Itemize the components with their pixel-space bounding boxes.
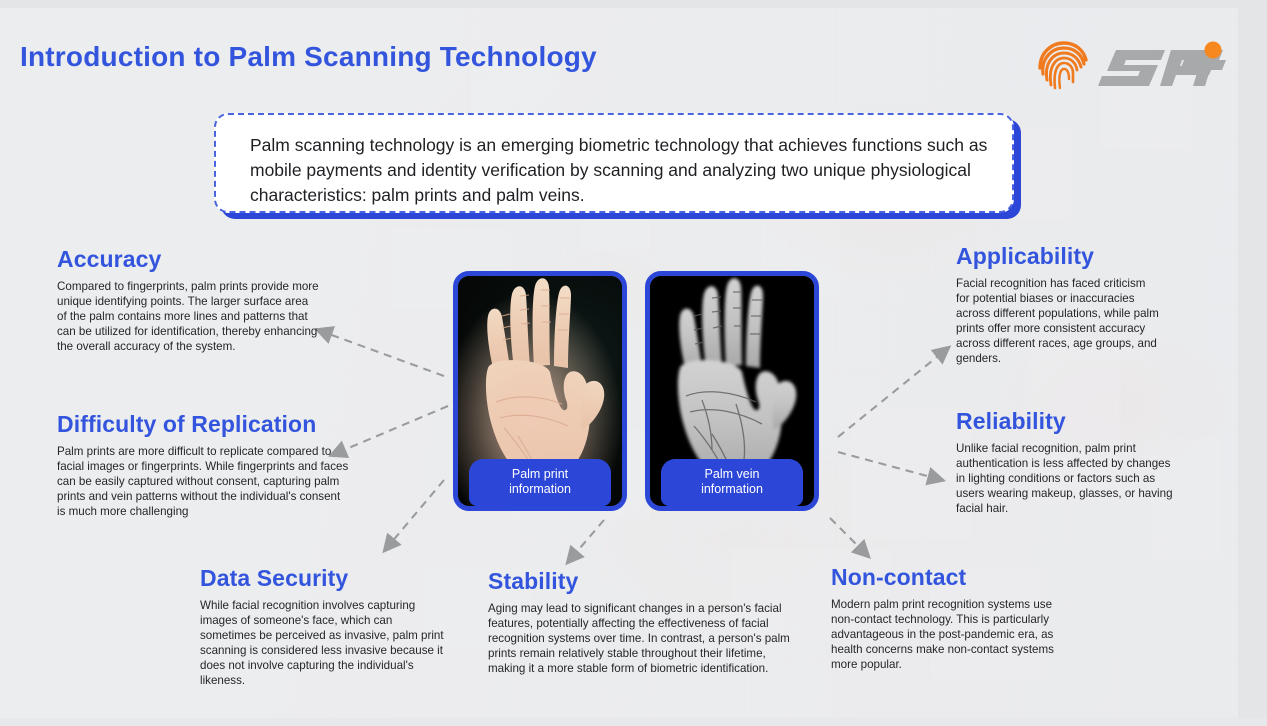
feature-difficulty-body: Palm prints are more difficult to replic…: [57, 444, 349, 519]
bottom-edge-strip: [0, 718, 1267, 726]
feature-reliability-heading: Reliability: [956, 408, 1178, 435]
palm-vein-label: Palm vein information: [661, 459, 803, 507]
intro-callout: Palm scanning technology is an emerging …: [214, 113, 1014, 213]
page-title: Introduction to Palm Scanning Technology: [20, 41, 597, 73]
palm-print-label-line2: information: [509, 482, 571, 496]
palm-print-label-line1: Palm print: [512, 467, 568, 481]
feature-applicability-heading: Applicability: [956, 243, 1162, 270]
feature-difficulty-of-replication: Difficulty of Replication Palm prints ar…: [57, 411, 349, 519]
feature-difficulty-heading: Difficulty of Replication: [57, 411, 349, 438]
sft-logo: [1034, 38, 1232, 90]
palm-vein-label-line2: information: [701, 482, 763, 496]
feature-data-security-heading: Data Security: [200, 565, 448, 592]
right-edge-strip: [1238, 0, 1267, 726]
palm-print-card[interactable]: Palm print information: [453, 271, 627, 511]
palm-vein-card[interactable]: Palm vein information: [645, 271, 819, 511]
feature-applicability: Applicability Facial recognition has fac…: [956, 243, 1162, 366]
feature-reliability-body: Unlike facial recognition, palm print au…: [956, 441, 1178, 516]
feature-accuracy: Accuracy Compared to fingerprints, palm …: [57, 246, 319, 354]
feature-accuracy-body: Compared to fingerprints, palm prints pr…: [57, 279, 319, 354]
palm-vein-label-line1: Palm vein: [705, 467, 760, 481]
feature-stability: Stability Aging may lead to significant …: [488, 568, 798, 676]
feature-stability-heading: Stability: [488, 568, 798, 595]
feature-accuracy-heading: Accuracy: [57, 246, 319, 273]
feature-data-security-body: While facial recognition involves captur…: [200, 598, 448, 688]
logo-dot: [1205, 42, 1222, 59]
fingerprint-icon: [1040, 43, 1086, 88]
intro-text: Palm scanning technology is an emerging …: [216, 115, 1012, 208]
feature-non-contact-heading: Non-contact: [831, 564, 1056, 591]
slide-canvas: Introduction to Palm Scanning Technology…: [0, 0, 1267, 726]
feature-stability-body: Aging may lead to significant changes in…: [488, 601, 798, 676]
top-edge-strip: [0, 0, 1267, 8]
feature-applicability-body: Facial recognition has faced criticism f…: [956, 276, 1162, 366]
feature-non-contact: Non-contact Modern palm print recognitio…: [831, 564, 1056, 672]
palm-print-label: Palm print information: [469, 459, 611, 507]
feature-reliability: Reliability Unlike facial recognition, p…: [956, 408, 1178, 516]
feature-data-security: Data Security While facial recognition i…: [200, 565, 448, 688]
feature-non-contact-body: Modern palm print recognition systems us…: [831, 597, 1056, 672]
